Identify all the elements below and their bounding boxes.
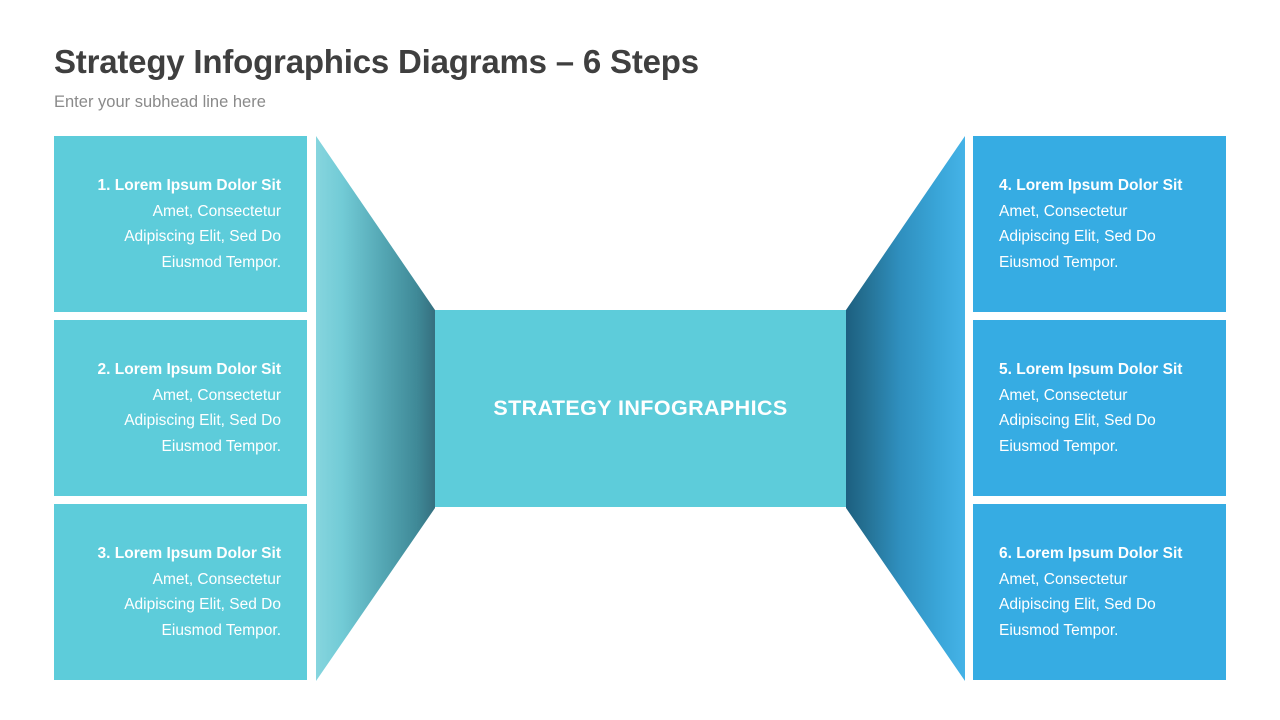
step-body-4: Amet, Consectetur Adipiscing Elit, Sed D… (999, 199, 1185, 276)
step-heading-5: 5. Lorem Ipsum Dolor Sit (999, 357, 1182, 383)
center-block: STRATEGY INFOGRAPHICS (435, 310, 846, 507)
step-heading-6: 6. Lorem Ipsum Dolor Sit (999, 541, 1182, 567)
step-heading-1: 1. Lorem Ipsum Dolor Sit (98, 173, 281, 199)
right-funnel-wing-shape (841, 136, 965, 681)
step-box-6[interactable]: 6. Lorem Ipsum Dolor Sit Amet, Consectet… (973, 504, 1226, 680)
step-body-3: Amet, Consectetur Adipiscing Elit, Sed D… (99, 567, 281, 644)
step-box-3[interactable]: 3. Lorem Ipsum Dolor Sit Amet, Consectet… (54, 504, 307, 680)
step-box-4[interactable]: 4. Lorem Ipsum Dolor Sit Amet, Consectet… (973, 136, 1226, 312)
step-heading-2: 2. Lorem Ipsum Dolor Sit (98, 357, 281, 383)
step-box-2[interactable]: 2. Lorem Ipsum Dolor Sit Amet, Consectet… (54, 320, 307, 496)
step-heading-4: 4. Lorem Ipsum Dolor Sit (999, 173, 1182, 199)
step-body-2: Amet, Consectetur Adipiscing Elit, Sed D… (99, 383, 281, 460)
step-heading-3: 3. Lorem Ipsum Dolor Sit (98, 541, 281, 567)
step-body-6: Amet, Consectetur Adipiscing Elit, Sed D… (999, 567, 1185, 644)
step-box-1[interactable]: 1. Lorem Ipsum Dolor Sit Amet, Consectet… (54, 136, 307, 312)
strategy-diagram: STRATEGY INFOGRAPHICS 1. Lorem Ipsum Dol… (0, 0, 1280, 720)
step-body-5: Amet, Consectetur Adipiscing Elit, Sed D… (999, 383, 1185, 460)
slide-canvas: Strategy Infographics Diagrams – 6 Steps… (0, 0, 1280, 720)
step-body-1: Amet, Consectetur Adipiscing Elit, Sed D… (99, 199, 281, 276)
center-block-label: STRATEGY INFOGRAPHICS (493, 396, 787, 421)
step-box-5[interactable]: 5. Lorem Ipsum Dolor Sit Amet, Consectet… (973, 320, 1226, 496)
left-funnel-wing-shape (316, 136, 440, 681)
